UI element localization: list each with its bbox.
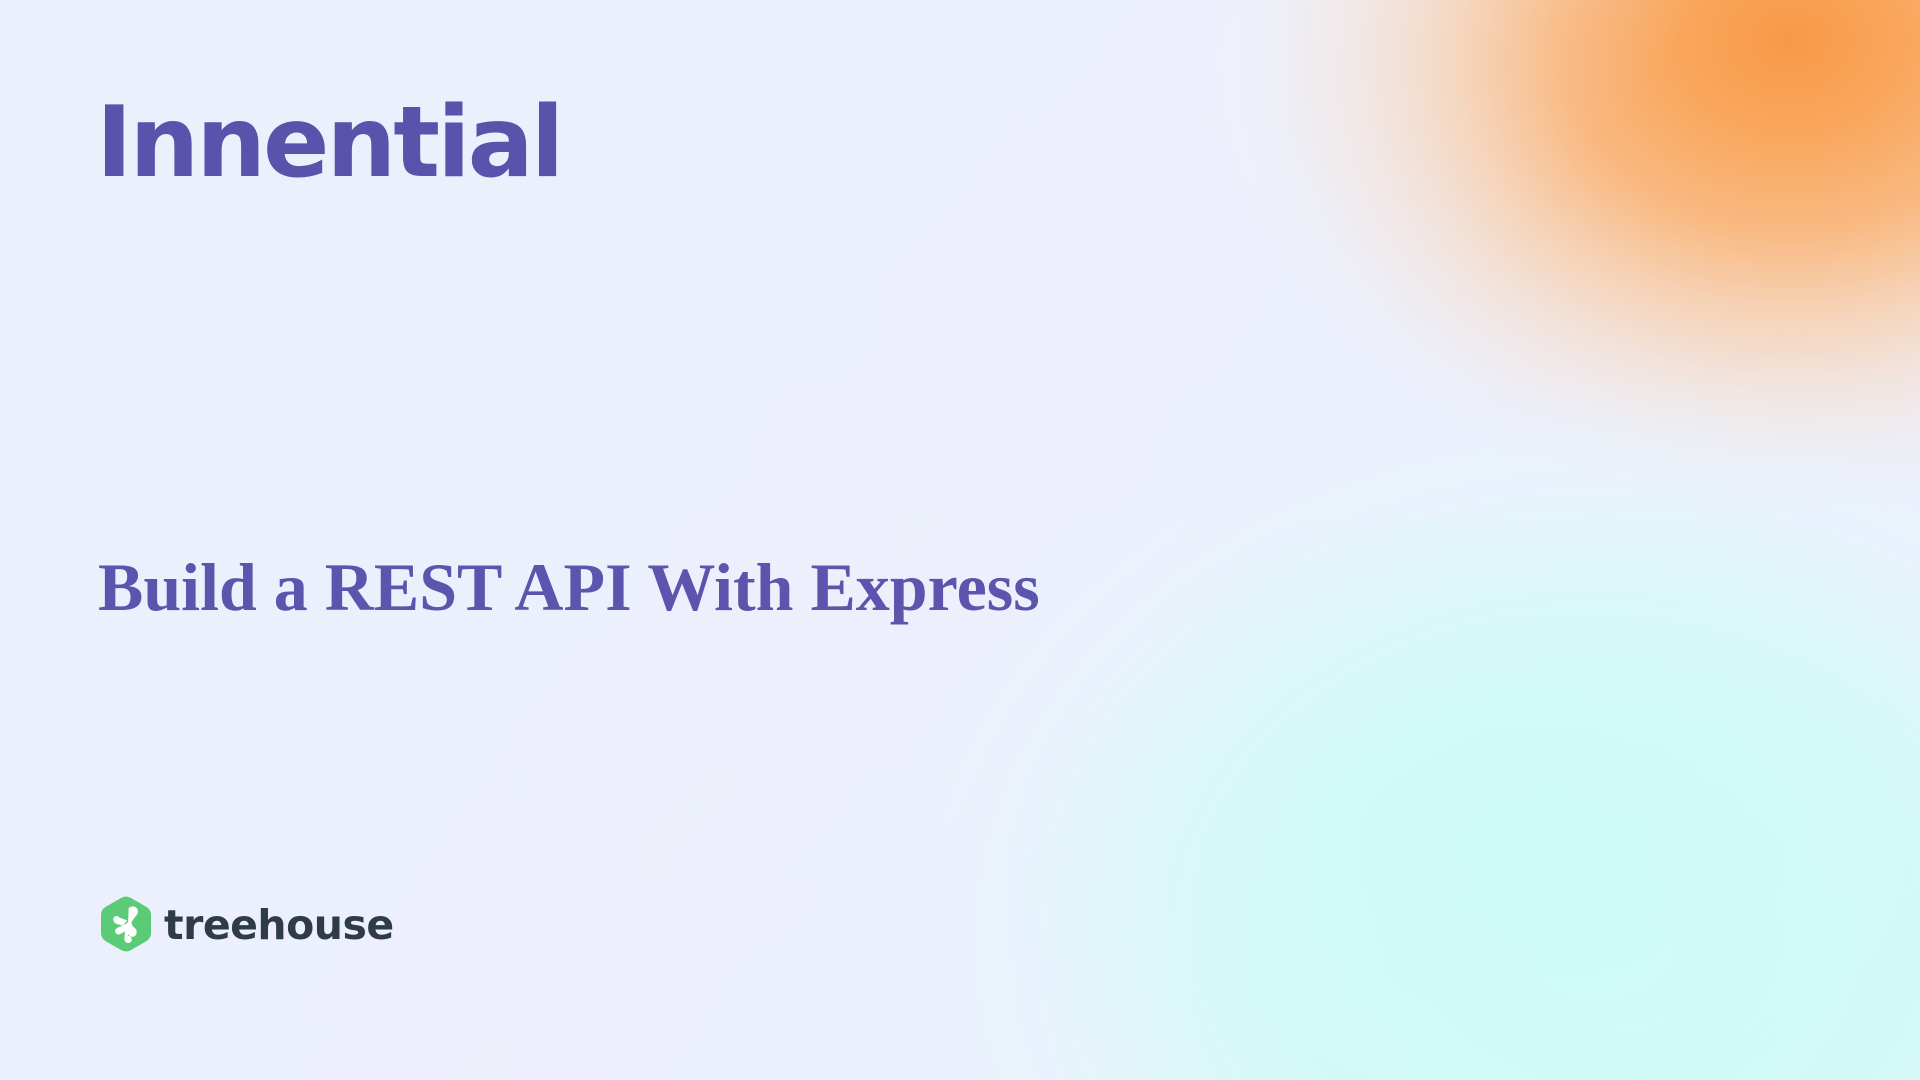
provider-logo: treehouse (98, 896, 394, 954)
treehouse-leaf-icon (98, 896, 154, 954)
brand-wordmark-innential: Innential (96, 92, 561, 195)
course-cover-card: Innential Build a REST API With Express … (0, 0, 1920, 1080)
provider-name-label: treehouse (164, 905, 394, 946)
cover-content: Innential Build a REST API With Express … (0, 0, 1920, 1080)
course-title: Build a REST API With Express (98, 549, 1040, 625)
